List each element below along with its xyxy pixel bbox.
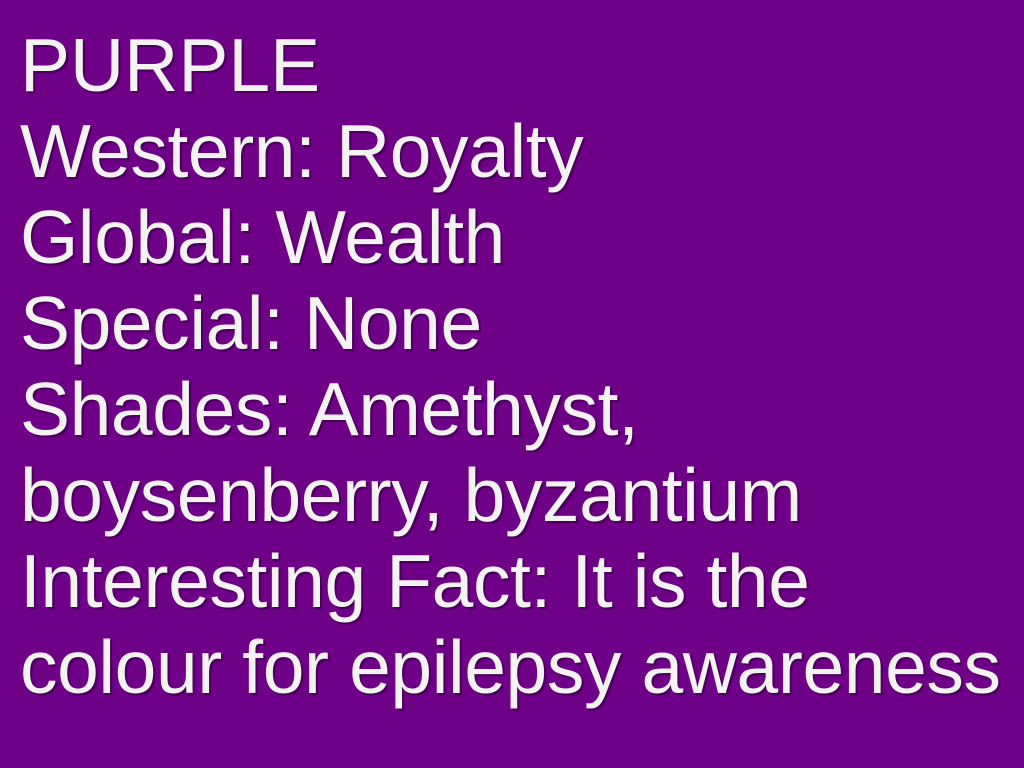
slide-canvas: PURPLE Western: Royalty Global: Wealth S… <box>0 0 1024 768</box>
slide-line-global: Global: Wealth <box>20 194 1024 280</box>
slide-line-western: Western: Royalty <box>20 108 1024 194</box>
slide-title: PURPLE <box>20 22 1024 108</box>
slide-line-shades-part1: Shades: Amethyst, <box>20 366 1024 452</box>
slide-line-fact-part1: Interesting Fact: It is the <box>20 538 1024 624</box>
slide-line-shades-part2: boysenberry, byzantium <box>20 452 1024 538</box>
slide-line-fact-part2: colour for epilepsy awareness <box>20 624 1024 710</box>
slide-text-block: PURPLE Western: Royalty Global: Wealth S… <box>20 22 1024 710</box>
slide-line-special: Special: None <box>20 280 1024 366</box>
